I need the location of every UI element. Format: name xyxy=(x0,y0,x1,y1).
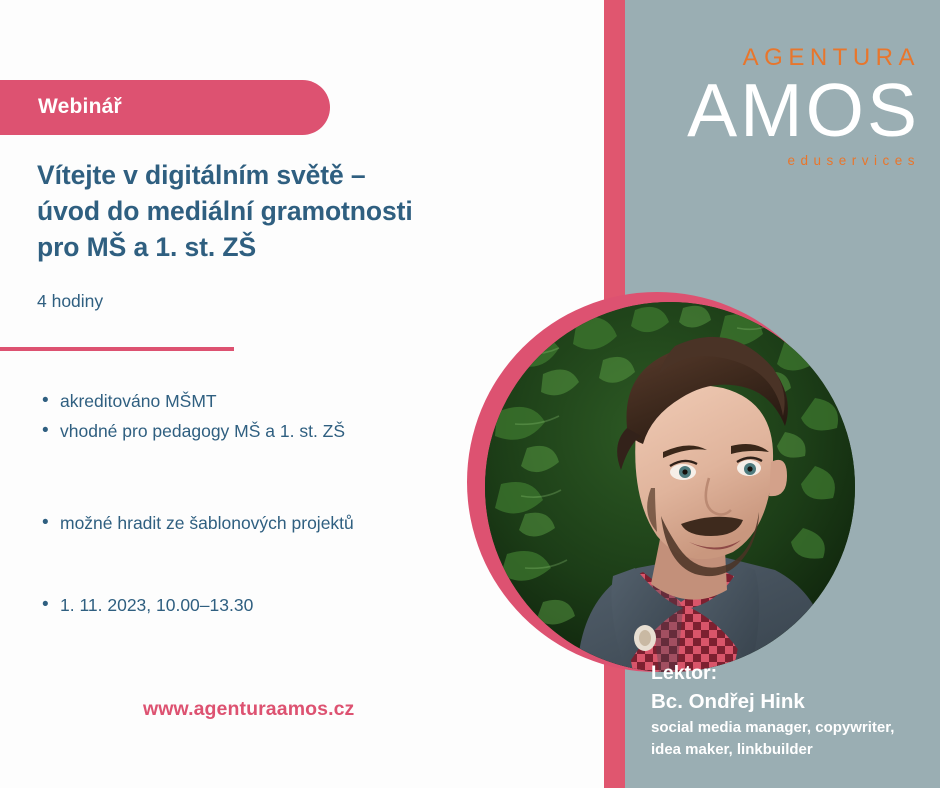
page-title-line-1: Vítejte v digitálním světě – xyxy=(37,157,467,193)
divider-rule xyxy=(0,347,234,351)
page-title: Vítejte v digitálním světě – úvod do med… xyxy=(37,157,467,265)
lecturer-info: Lektor: Bc. Ondřej Hink social media man… xyxy=(651,660,931,761)
lecturer-name: Bc. Ondřej Hink xyxy=(651,687,931,717)
lecturer-portrait-photo xyxy=(485,302,855,672)
list-item: • akreditováno MŠMT xyxy=(42,386,462,416)
website-url[interactable]: www.agenturaamos.cz xyxy=(143,698,354,721)
lecturer-title-label: Lektor: xyxy=(651,660,931,687)
webinar-promo-poster: Webinář Vítejte v digitálním světě – úvo… xyxy=(0,0,940,788)
page-title-line-3: pro MŠ a 1. st. ZŠ xyxy=(37,229,467,265)
webinar-badge-label: Webinář xyxy=(38,95,122,119)
list-item: • vhodné pro pedagogy MŠ a 1. st. ZŠ xyxy=(42,416,462,446)
bullet-icon: • xyxy=(42,508,60,538)
list-item-label: akreditováno MŠMT xyxy=(60,386,462,416)
page-title-line-2: úvod do mediální gramotnosti xyxy=(37,193,467,229)
lecturer-role-line-2: idea maker, linkbuilder xyxy=(651,739,931,761)
feature-list: • akreditováno MŠMT • vhodné pro pedagog… xyxy=(42,386,462,620)
duration-label: 4 hodiny xyxy=(37,291,103,312)
list-item-label: vhodné pro pedagogy MŠ a 1. st. ZŠ xyxy=(60,416,462,446)
logo-main-word: AMOS xyxy=(625,73,920,147)
bullet-icon: • xyxy=(42,590,60,620)
list-item-label: 1. 11. 2023, 10.00–13.30 xyxy=(60,590,462,620)
bullet-icon: • xyxy=(42,416,60,446)
agentura-amos-logo: AGENTURA AMOS eduservices xyxy=(625,44,940,171)
list-spacer xyxy=(42,446,462,508)
webinar-badge: Webinář xyxy=(0,80,330,135)
list-item: • 1. 11. 2023, 10.00–13.30 xyxy=(42,590,462,620)
portrait-illustration xyxy=(485,302,855,672)
list-item: • možné hradit ze šablonových projektů xyxy=(42,508,462,538)
list-spacer xyxy=(42,538,462,590)
lecturer-role-line-1: social media manager, copywriter, xyxy=(651,717,931,739)
logo-tagline: eduservices xyxy=(625,151,920,171)
bullet-icon: • xyxy=(42,386,60,416)
list-item-label: možné hradit ze šablonových projektů xyxy=(60,508,462,538)
